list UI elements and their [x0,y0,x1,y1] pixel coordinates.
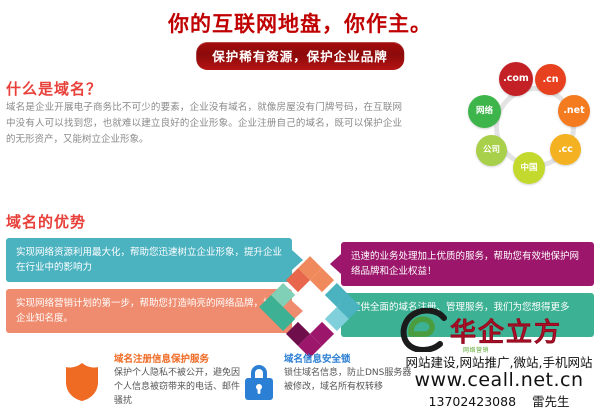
e-swirl-icon [398,308,450,352]
advantage-card-right-1: 迅速的业务处理加上优质的服务，帮助您有效地保护网络品牌和企业权益！ [341,242,594,286]
page-title: 你的互联网地盘，你作主。 [0,8,600,38]
poster-canvas: 你的互联网地盘，你作主。 保护稀有资源，保护企业品牌 什么是域名？ 域名是企业开… [0,0,600,413]
feature-body-security-lock: 锁住域名信息，防止DNS服务器被修改，域名所有权转移 [284,366,412,394]
contact-line: 13702423088 雷先生 [398,391,600,410]
website-url[interactable]: www.ceall.net.cn [398,369,600,391]
feature-title-registration-privacy: 域名注册信息保护服务 [114,351,209,365]
brand-logo-text: 华企立方 [450,312,562,349]
domain-bubble-com[interactable]: .com [499,62,533,96]
brand-logo: 华企立方 [398,306,598,352]
section-heading-advantages: 域名的优势 [6,211,86,232]
hero-banner: 你的互联网地盘，你作主。 保护稀有资源，保护企业品牌 [0,0,600,70]
domain-bubble-net[interactable]: .net [558,95,590,127]
domain-bubble-cn[interactable]: .cn [535,64,566,95]
phone-number: 13702423088 [429,394,516,409]
section-body-what-is-domain: 域名是企业开展电子商务比不可少的要素，企业没有域名，就像房屋没有门牌号码，在互联… [6,100,402,148]
feature-body-registration-privacy: 保护个人隐私不被公开，避免因个人信息被窃带来的电话、邮件骚扰 [114,366,242,408]
domain-bubble-网络[interactable]: 网络 [468,95,501,128]
contact-person: 雷先生 [532,394,570,409]
lock-icon [242,362,276,402]
shield-icon [64,362,100,402]
advantage-card-left-1: 实现网络资源利用最大化，帮助您迅速树立企业形象，提升企业在行业中的影响力 [6,238,292,282]
hero-subtitle-badge: 保护稀有资源，保护企业品牌 [196,42,404,70]
section-heading-what-is-domain: 什么是域名？ [6,78,102,99]
domain-bubble-公司[interactable]: 公司 [476,135,507,166]
domain-bubble-中国[interactable]: 中国 [513,152,545,184]
feature-title-security-lock: 域名信息安全锁 [284,351,351,365]
domain-bubble-cc[interactable]: .cc [550,134,581,165]
domain-extension-diagram: .com.cn.net.cc中国公司网络 [468,62,600,197]
